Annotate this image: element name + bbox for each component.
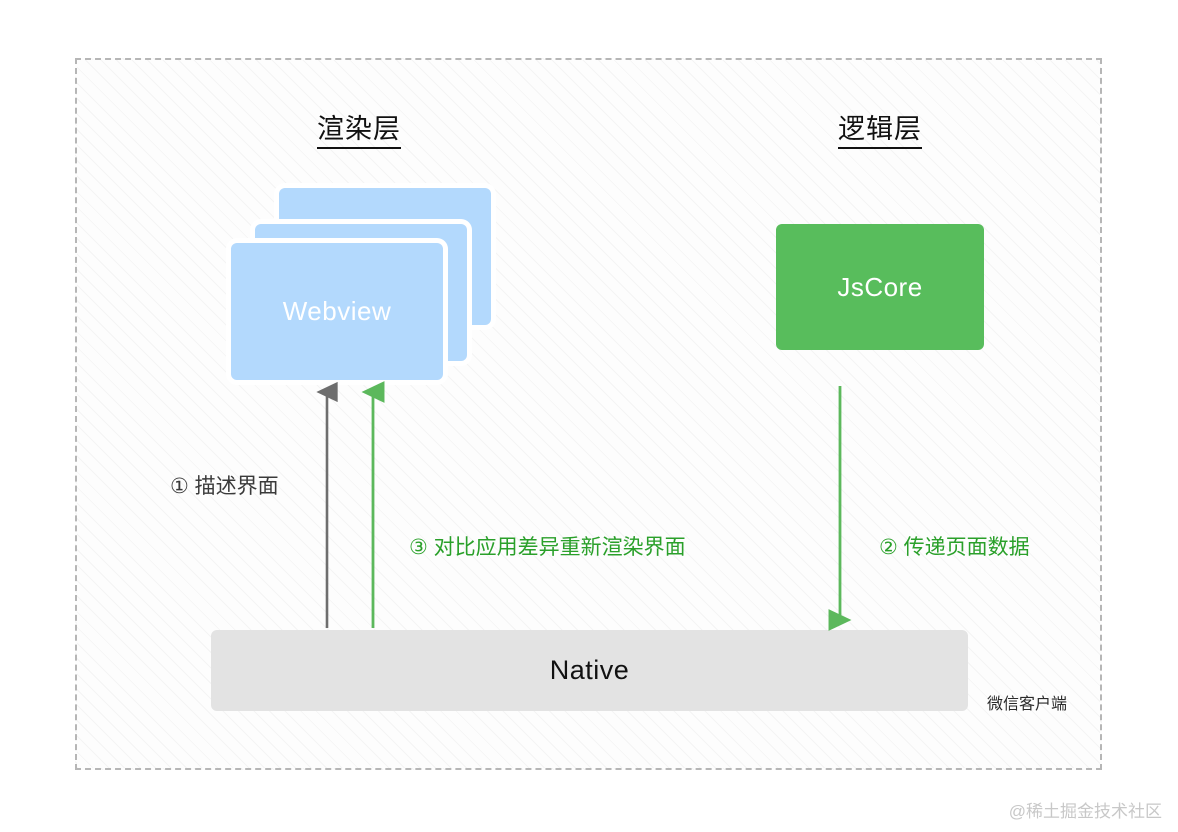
- native-label: Native: [550, 655, 630, 686]
- webview-card-front: Webview: [231, 243, 443, 380]
- webview-label: Webview: [283, 296, 392, 327]
- diagram-canvas: 渲染层 逻辑层 Webview JsCore Native 微信客户端: [0, 0, 1178, 832]
- webview-stack: Webview: [231, 188, 491, 380]
- jscore-label: JsCore: [837, 272, 922, 303]
- section-title-render-layer: 渲染层: [317, 114, 401, 149]
- native-box: Native: [211, 630, 968, 711]
- wechat-client-label: 微信客户端: [987, 690, 1067, 714]
- watermark: @稀土掘金技术社区: [1009, 797, 1162, 822]
- arrow-caption-rerender-interface: ③ 对比应用差异重新渲染界面: [409, 535, 686, 560]
- section-title-logic-layer: 逻辑层: [838, 114, 922, 149]
- arrow-caption-describe-interface: ① 描述界面: [170, 474, 279, 499]
- jscore-box: JsCore: [776, 224, 984, 350]
- arrow-caption-pass-page-data: ② 传递页面数据: [879, 535, 1030, 560]
